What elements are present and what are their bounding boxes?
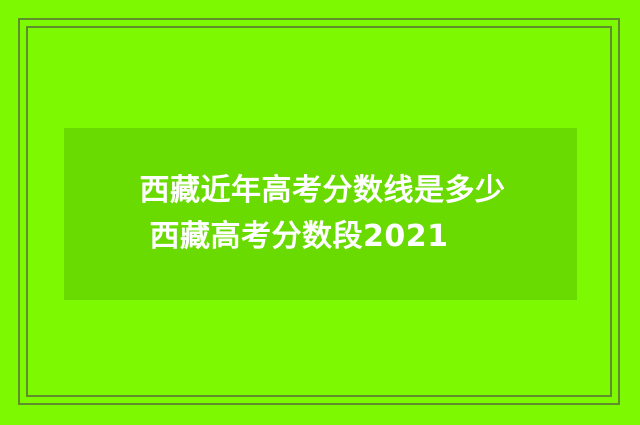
headline-line-1: 西藏近年高考分数线是多少 [140, 168, 506, 214]
banner-canvas: 西藏近年高考分数线是多少 西藏高考分数段2021 [0, 0, 640, 425]
headline-panel: 西藏近年高考分数线是多少 西藏高考分数段2021 [64, 128, 577, 300]
headline-text-block: 西藏近年高考分数线是多少 西藏高考分数段2021 [140, 168, 506, 260]
headline-line-2: 西藏高考分数段2021 [140, 214, 506, 260]
